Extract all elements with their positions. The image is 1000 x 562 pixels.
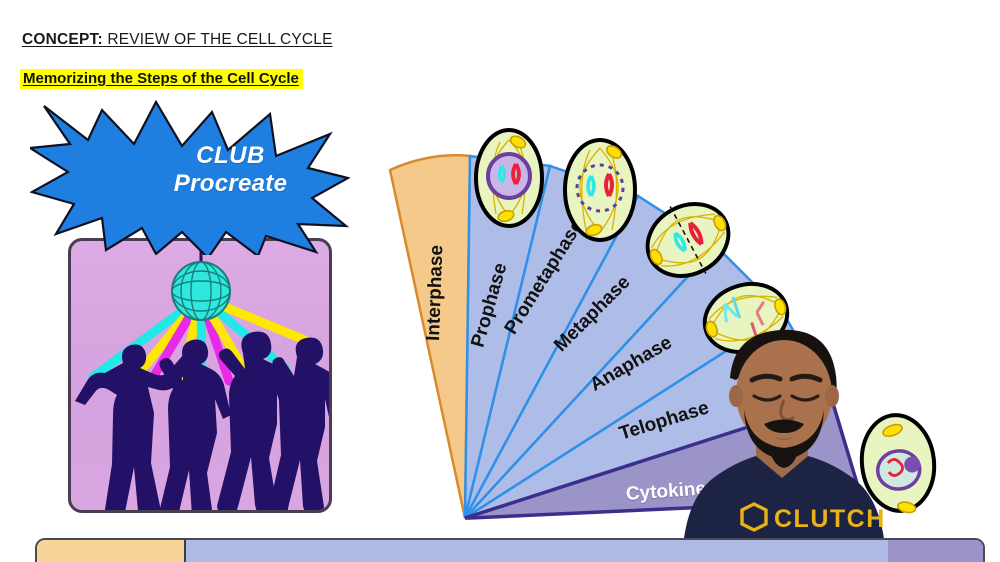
timeline-segment-interphase[interactable] (37, 540, 186, 562)
wedge-interphase[interactable] (390, 155, 470, 518)
presenter-video: CLUTCH (660, 318, 920, 562)
timeline-segment-cytokinesis[interactable] (888, 540, 983, 562)
concept-title: REVIEW OF THE CELL CYCLE (103, 31, 333, 48)
club-procreate-mnemonic: CLUB Procreate (30, 100, 350, 520)
slide-canvas: CONCEPT: REVIEW OF THE CELL CYCLE Memori… (0, 0, 1000, 562)
cell-cycle-timeline-bar (35, 538, 985, 562)
concept-keyword: CONCEPT: (22, 31, 103, 48)
club-dance-floor-box (68, 238, 332, 513)
clutch-logo-text: CLUTCH (774, 505, 886, 533)
page-subtitle: Memorizing the Steps of the Cell Cycle (20, 69, 303, 89)
timeline-segment-mitosis[interactable] (186, 540, 889, 562)
star-burst-shape (30, 100, 350, 255)
cell-diagram-prophase (470, 126, 548, 235)
dance-floor-illustration (71, 241, 329, 510)
cell-diagram-prometaphase (558, 136, 642, 249)
presenter-figure: CLUTCH (660, 318, 920, 562)
concept-heading: CONCEPT: REVIEW OF THE CELL CYCLE (22, 31, 333, 49)
